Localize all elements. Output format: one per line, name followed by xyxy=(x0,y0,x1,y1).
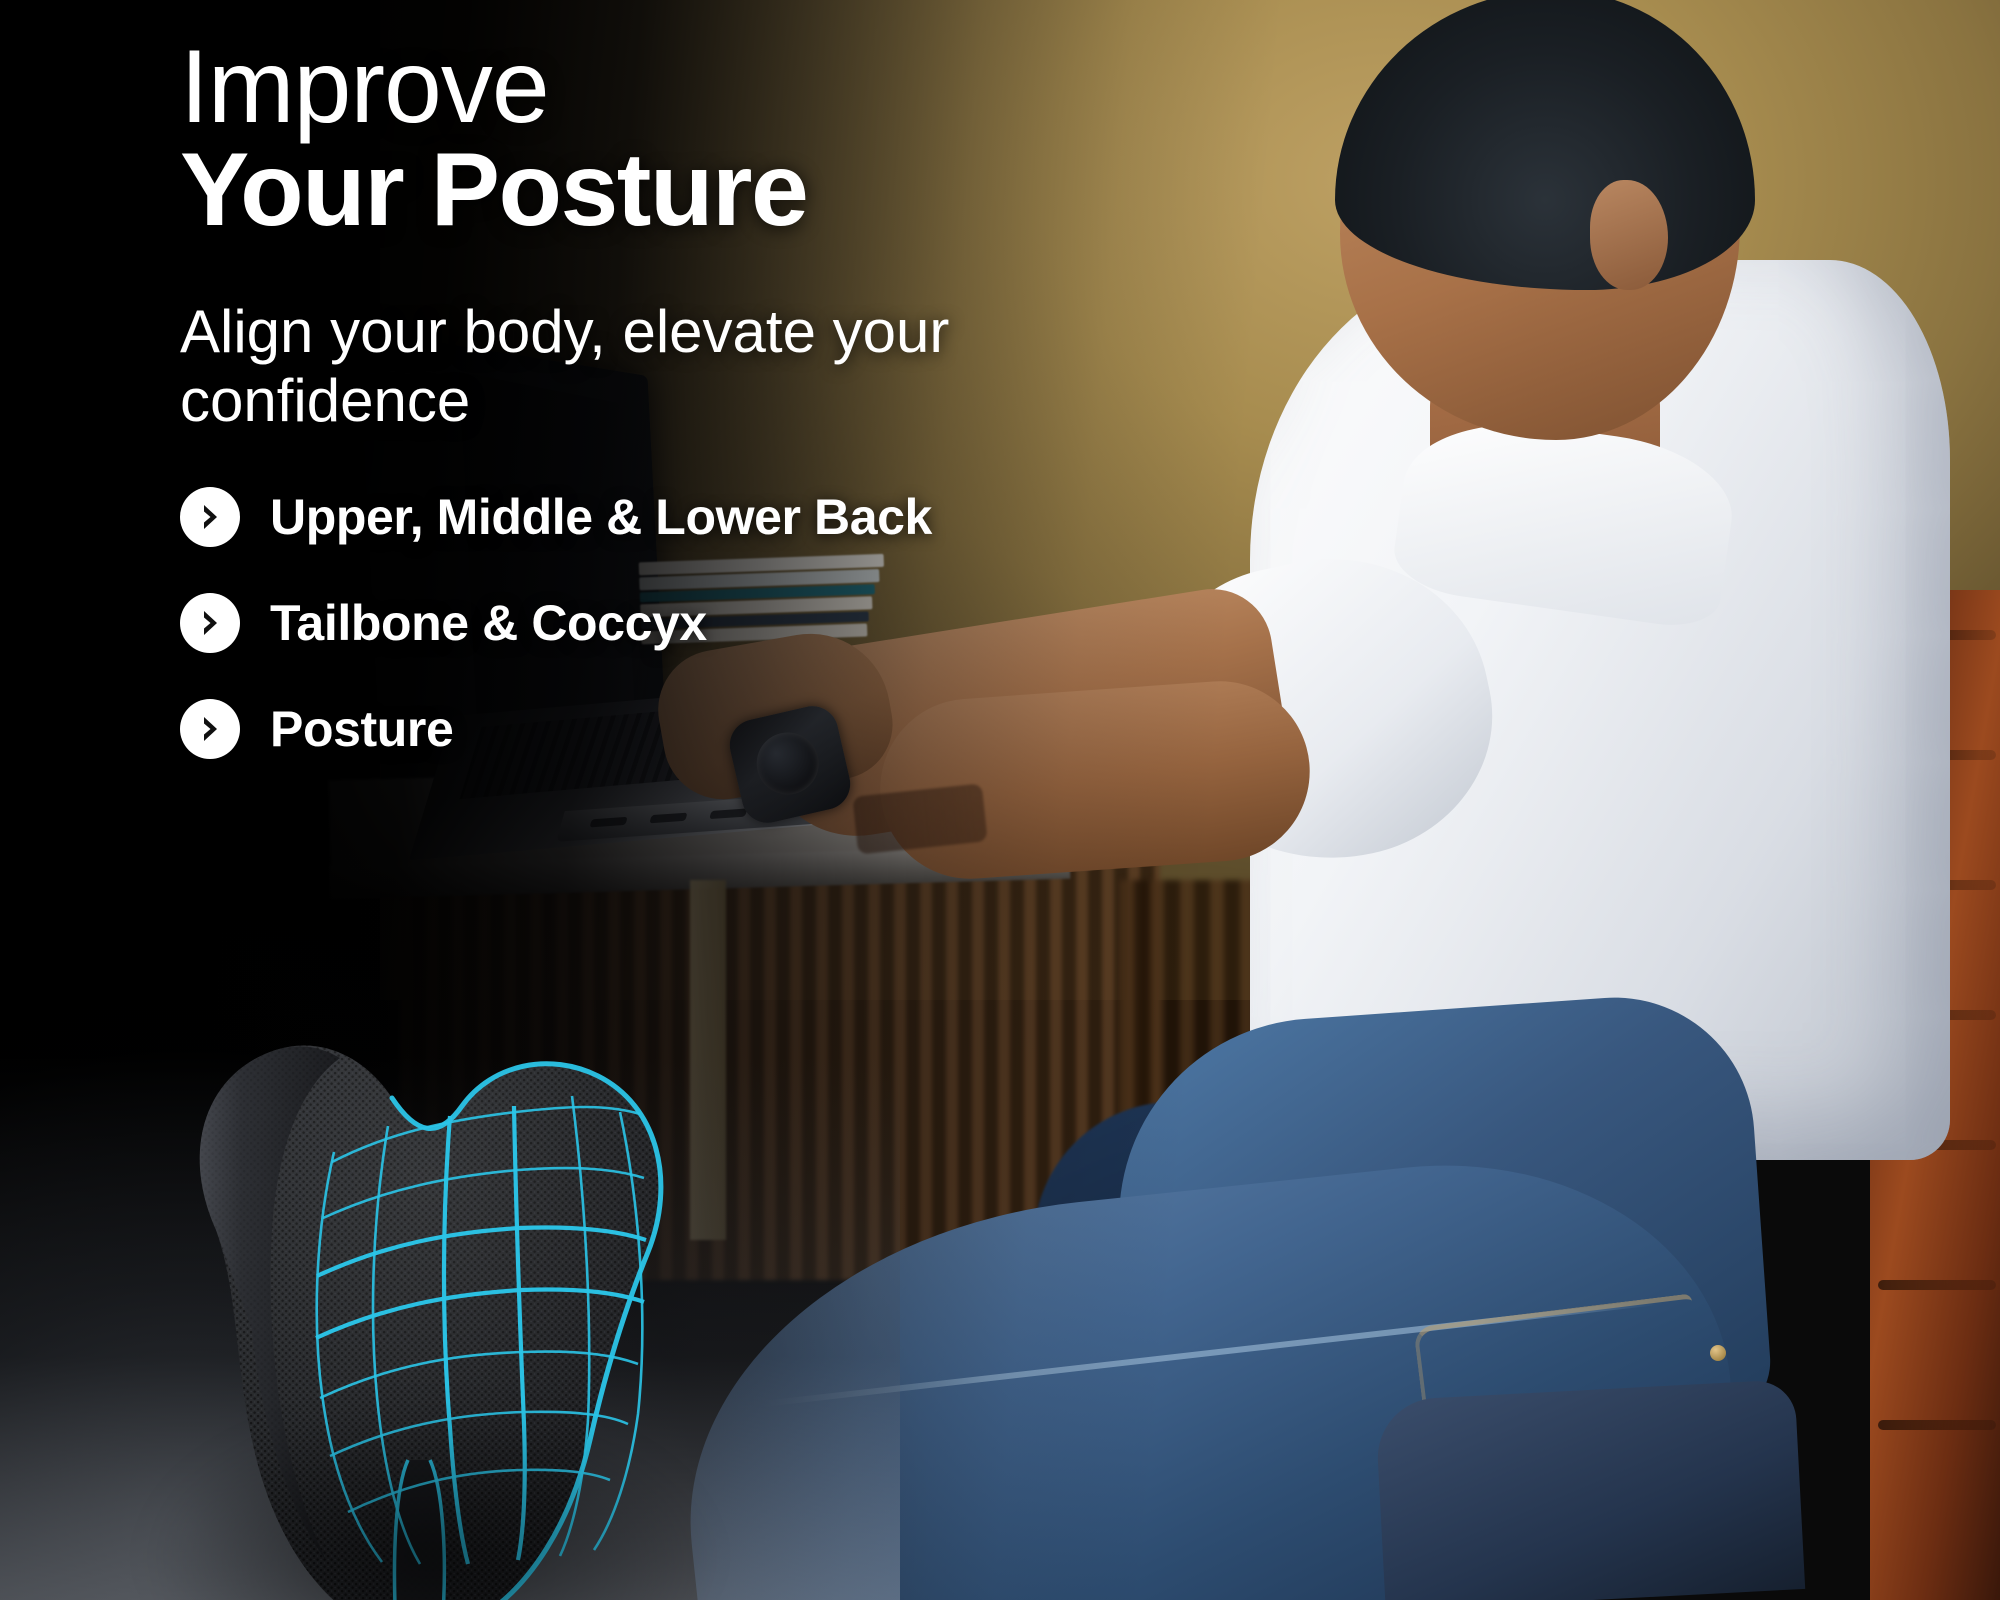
product-cushion xyxy=(120,900,740,1600)
benefits-list: Upper, Middle & Lower Back Tailbone & Co… xyxy=(180,487,1310,759)
benefit-item-tailbone: Tailbone & Coccyx xyxy=(180,593,1310,653)
subheadline: Align your body, elevate your confidence xyxy=(180,298,1140,435)
headline-line-2: Your Posture xyxy=(180,136,1310,244)
chevron-right-circle-icon xyxy=(180,487,240,547)
promo-banner: Improve Your Posture Align your body, el… xyxy=(0,0,2000,1600)
headline-line-1: Improve xyxy=(180,32,1310,142)
benefit-item-posture: Posture xyxy=(180,699,1310,759)
cushion-shadow xyxy=(140,1400,720,1600)
benefit-label: Upper, Middle & Lower Back xyxy=(270,488,932,546)
benefit-item-back: Upper, Middle & Lower Back xyxy=(180,487,1310,547)
chevron-right-circle-icon xyxy=(180,699,240,759)
banner-content: Improve Your Posture Align your body, el… xyxy=(180,32,1310,805)
chevron-right-circle-icon xyxy=(180,593,240,653)
benefit-label: Tailbone & Coccyx xyxy=(270,594,707,652)
benefit-label: Posture xyxy=(270,700,453,758)
